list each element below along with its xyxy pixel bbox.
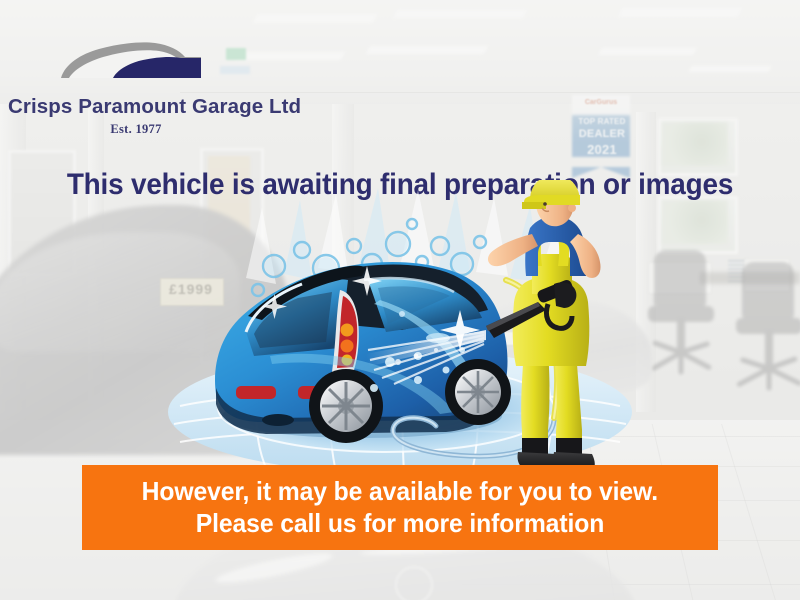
- car-emblem: [395, 566, 433, 600]
- office-chair: [648, 250, 718, 380]
- availability-banner: However, it may be available for you to …: [82, 465, 718, 550]
- award-line1: TOP RATED: [574, 117, 630, 126]
- vehicle-placeholder-image: CarGurus TOP RATED DEALER 2021: [0, 0, 800, 600]
- car-wash-illustration: [150, 180, 650, 480]
- award-brand-label: CarGurus: [572, 99, 630, 106]
- dealer-name: Crisps Paramount Garage Ltd: [8, 96, 264, 119]
- award-year: 2021: [574, 142, 630, 157]
- award-line2: DEALER: [574, 128, 630, 140]
- banner-line-2: Please call us for more information: [196, 508, 604, 540]
- banner-line-1: However, it may be available for you to …: [142, 476, 658, 508]
- car-silhouette-icon: [51, 30, 221, 92]
- dealer-logo: Crisps Paramount Garage Ltd Est. 1977: [8, 30, 264, 137]
- dealer-established: Est. 1977: [8, 122, 264, 137]
